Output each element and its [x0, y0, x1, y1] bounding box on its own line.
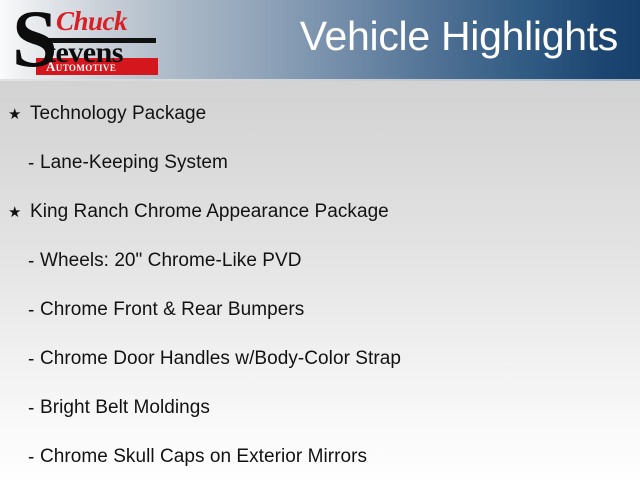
page-header: S Chuck tevens Automotive Vehicle Highli…	[0, 0, 640, 79]
dash-bullet-icon: -	[28, 252, 40, 271]
page-title: Vehicle Highlights	[300, 9, 618, 63]
highlight-item: ★Technology Package	[0, 99, 640, 129]
highlight-subitem: -Chrome Door Handles w/Body-Color Strap	[0, 344, 640, 374]
highlight-subitem: -Bright Belt Moldings	[0, 393, 640, 423]
highlights-list: ★Technology Package-Lane-Keeping System★…	[0, 81, 640, 480]
star-bullet-icon: ★	[8, 203, 30, 222]
highlight-label: Technology Package	[30, 102, 206, 126]
highlight-label: Wheels: 20" Chrome-Like PVD	[40, 249, 302, 273]
vehicle-highlights-page: S Chuck tevens Automotive Vehicle Highli…	[0, 0, 640, 480]
dash-bullet-icon: -	[28, 448, 40, 467]
dash-bullet-icon: -	[28, 350, 40, 369]
highlight-label: Chrome Skull Caps on Exterior Mirrors	[40, 445, 367, 469]
highlight-label: Bright Belt Moldings	[40, 396, 210, 420]
highlight-label: King Ranch Chrome Appearance Package	[30, 200, 389, 224]
highlight-subitem: -Chrome Skull Caps on Exterior Mirrors	[0, 442, 640, 472]
highlight-label: Lane-Keeping System	[40, 151, 228, 175]
dealer-logo[interactable]: S Chuck tevens Automotive	[8, 2, 168, 78]
highlight-subitem: -Lane-Keeping System	[0, 148, 640, 178]
dash-bullet-icon: -	[28, 154, 40, 173]
star-bullet-icon: ★	[8, 105, 30, 124]
dash-bullet-icon: -	[28, 399, 40, 418]
highlight-item: ★King Ranch Chrome Appearance Package	[0, 197, 640, 227]
logo-first-name: Chuck	[56, 8, 127, 35]
highlight-subitem: -Wheels: 20" Chrome-Like PVD	[0, 246, 640, 276]
highlight-subitem: -Chrome Front & Rear Bumpers	[0, 295, 640, 325]
highlight-label: Chrome Front & Rear Bumpers	[40, 298, 304, 322]
dash-bullet-icon: -	[28, 301, 40, 320]
logo-tagline: Automotive	[46, 59, 116, 74]
highlight-label: Chrome Door Handles w/Body-Color Strap	[40, 347, 401, 371]
